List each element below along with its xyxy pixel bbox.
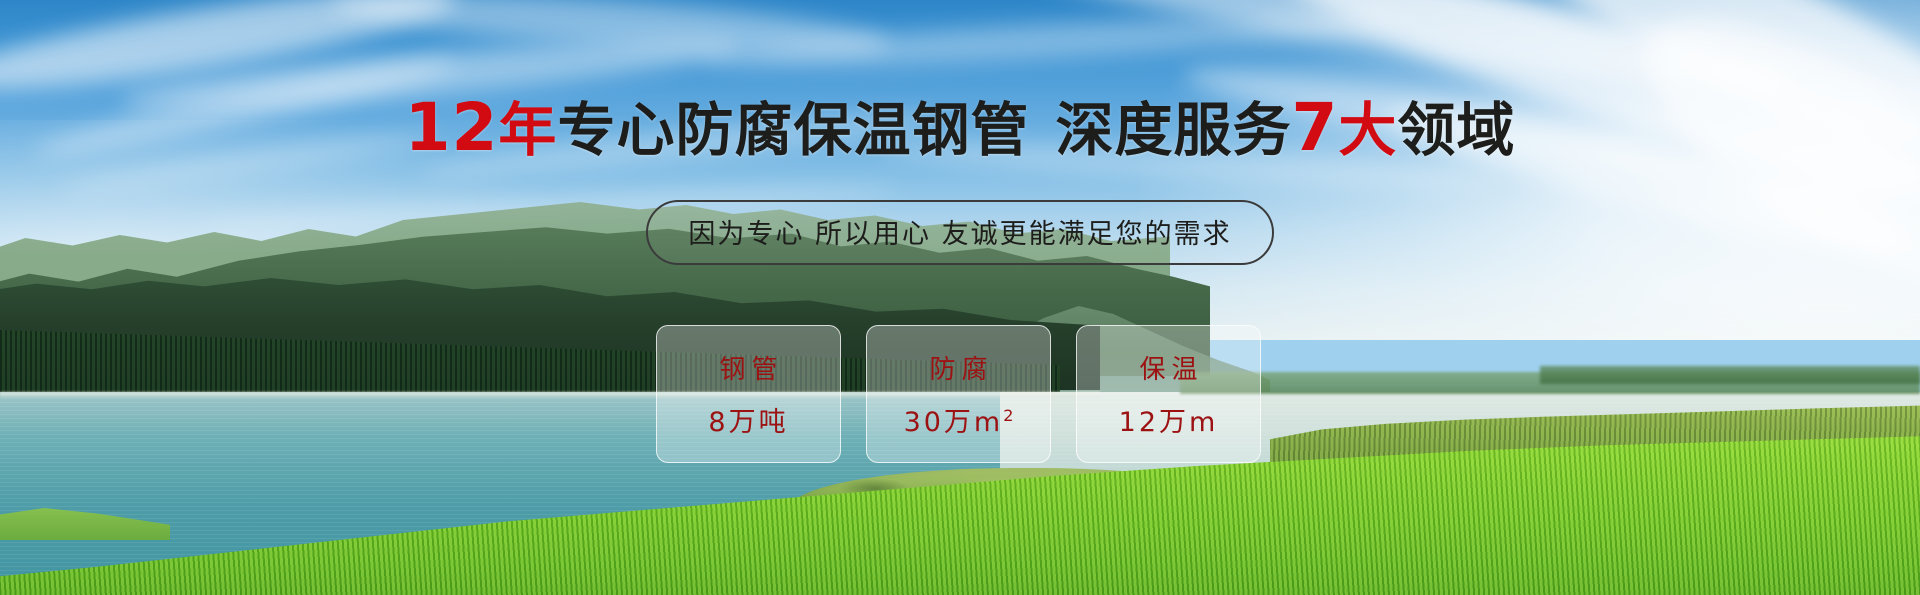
stat-value-text: 30万m: [904, 407, 1004, 438]
headline-years-unit: 年: [498, 96, 557, 164]
stat-card-anticorrosion: 防腐 30万m2: [866, 325, 1051, 463]
banner-subtitle-pill: 因为专心 所以用心 友诚更能满足您的需求: [646, 200, 1273, 265]
banner-content: 12年专心防腐保温钢管深度服务7大领域 因为专心 所以用心 友诚更能满足您的需求…: [0, 0, 1920, 595]
stat-card-group: 钢管 8万吨 防腐 30万m2 保温 12万m: [656, 325, 1261, 463]
stat-card-label: 钢管: [713, 349, 783, 386]
headline-fields-number: 7: [1291, 89, 1338, 166]
headline-years-number: 12: [405, 89, 499, 166]
hero-banner: 12年专心防腐保温钢管深度服务7大领域 因为专心 所以用心 友诚更能满足您的需求…: [0, 0, 1920, 595]
stat-card-label: 保温: [1133, 349, 1203, 386]
stat-card-insulation: 保温 12万m: [1076, 325, 1261, 463]
stat-value-superscript: 2: [1003, 406, 1013, 425]
stat-card-label: 防腐: [923, 349, 993, 386]
stat-card-value: 8万吨: [708, 400, 788, 439]
banner-subtitle-wrap: 因为专心 所以用心 友诚更能满足您的需求: [0, 200, 1920, 265]
headline-fields-unit: 大: [1338, 96, 1397, 164]
stat-card-value: 12万m: [1119, 400, 1219, 439]
banner-headline: 12年专心防腐保温钢管深度服务7大领域: [0, 92, 1920, 165]
stat-value-text: 12万m: [1119, 407, 1219, 438]
stat-value-text: 8万吨: [708, 407, 788, 438]
headline-fields-word: 领域: [1397, 96, 1515, 164]
stat-card-steel-pipe: 钢管 8万吨: [656, 325, 841, 463]
headline-service-phrase: 深度服务: [1055, 96, 1291, 164]
headline-main-phrase: 专心防腐保温钢管: [557, 96, 1029, 164]
stat-card-value: 30万m2: [904, 400, 1014, 439]
